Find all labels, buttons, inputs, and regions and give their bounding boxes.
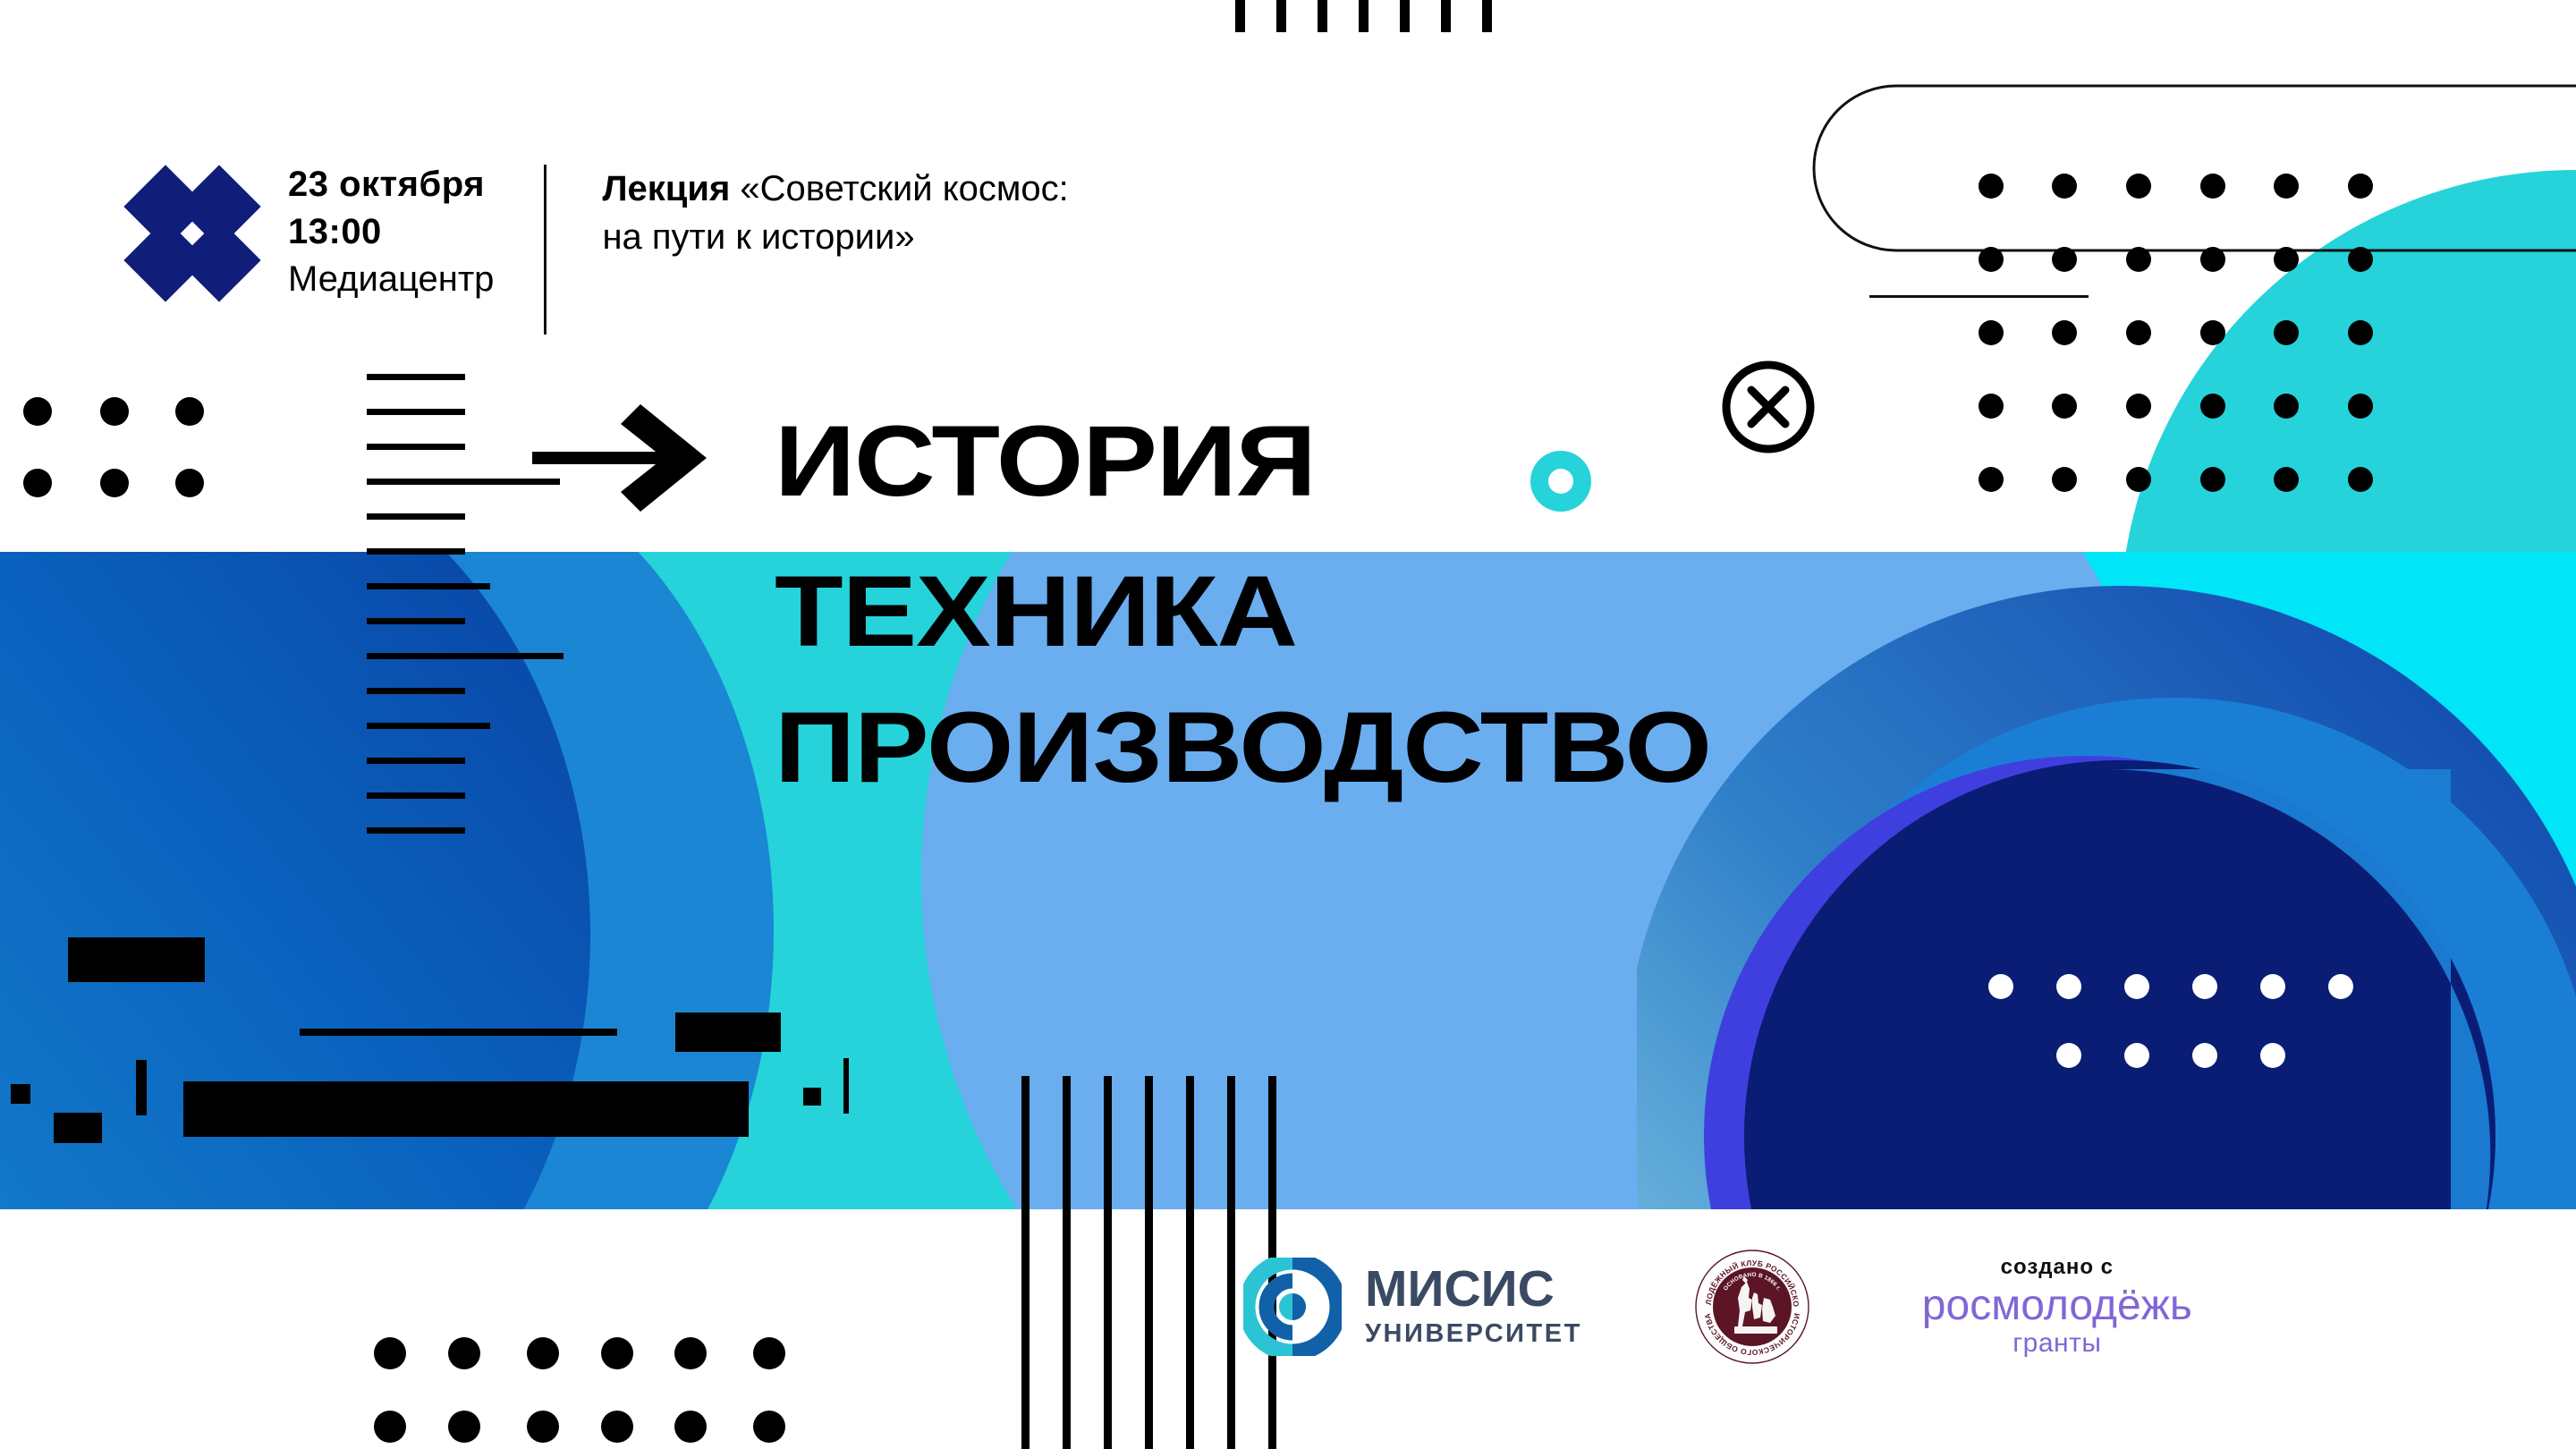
poster-header: 23 октября 13:00 Медиацентр Лекция «Сове… <box>134 161 1069 335</box>
rio-youth-club-seal: МОЛОДЁЖНЫЙ КЛУБ РОССИЙСКОГО ИСТОРИЧЕСКОГ… <box>1693 1248 1811 1366</box>
headline-line-1: ИСТОРИЯ <box>775 411 1316 512</box>
lecture-title-line2: на пути к истории» <box>602 217 914 257</box>
rosmolodezh-created-with: создано с <box>2001 1255 2114 1280</box>
teal-donut-icon <box>1530 451 1591 512</box>
rosmolodezh-brand: росмолодёжь <box>1922 1284 2192 1328</box>
misis-name: МИСИС <box>1365 1265 1582 1314</box>
poster-canvas: 23 октября 13:00 Медиацентр Лекция «Сове… <box>0 0 2576 1449</box>
headline-line-3: ПРОИЗВОДСТВО <box>775 698 1711 798</box>
lecture-kicker: Лекция <box>602 169 730 208</box>
lecture-title: Лекция «Советский космос: на пути к исто… <box>602 165 1068 261</box>
event-venue: Медиацентр <box>288 256 494 303</box>
misis-ring-mark <box>1243 1258 1342 1356</box>
event-meta: 23 октября 13:00 Медиацентр <box>288 161 544 303</box>
misis-university-logo: МИСИС УНИВЕРСИТЕТ <box>1243 1258 1582 1356</box>
misis-wordmark: МИСИС УНИВЕРСИТЕТ <box>1365 1265 1582 1349</box>
rosmolodezh-program: гранты <box>2012 1328 2101 1359</box>
misis-subtitle: УНИВЕРСИТЕТ <box>1365 1319 1582 1349</box>
decor-small-rule <box>1869 295 2089 298</box>
rosmolodezh-grants-logo: создано с росмолодёжь гранты <box>1922 1255 2192 1359</box>
lecture-title-line1: «Советский космос: <box>740 169 1068 208</box>
header-divider <box>544 165 547 335</box>
footer-logo-row: МИСИС УНИВЕРСИТЕТ МОЛОДЁЖНЫЙ КЛУБ РОССИЙ… <box>1243 1248 2192 1366</box>
headline-line-2: ТЕХНИКА <box>775 562 1297 662</box>
event-time: 13:00 <box>288 208 494 256</box>
misis-diamond-logo <box>134 170 250 313</box>
event-date: 23 октября <box>288 161 494 208</box>
